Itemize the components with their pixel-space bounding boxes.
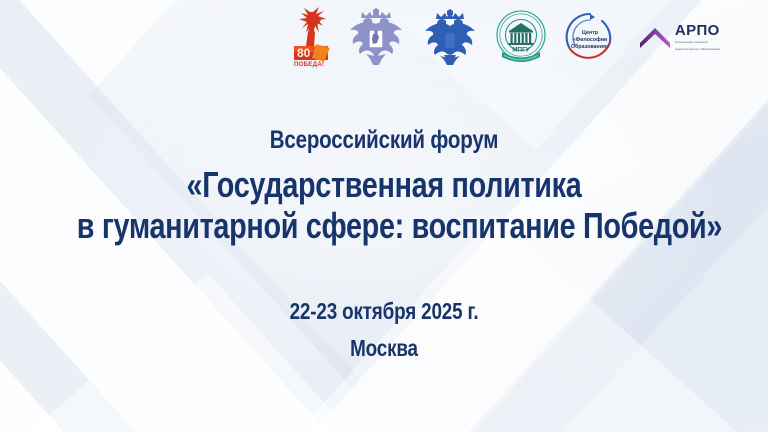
arpo-abbr: АРПО: [675, 23, 720, 38]
forum-title-line2: в гуманитарной сфере: воспитание Победой…: [77, 208, 691, 245]
forum-poster: 80 ПОБЕДА!: [0, 0, 768, 432]
minobrnauki-emblem-logo: [346, 8, 406, 66]
svg-text:ПОБЕДА!: ПОБЕДА!: [294, 61, 324, 68]
arpo-subtitle-line1: Ассоциация развития: [675, 40, 720, 44]
motherland-statue-icon: [299, 7, 326, 46]
forum-kicker: Всероссийский форум: [69, 128, 699, 153]
headline-block: Всероссийский форум «Государственная пол…: [0, 128, 768, 244]
event-dates: 22-23 октября 2025 г.: [69, 300, 699, 323]
centr-filosofii-obrazovaniya-logo: Центр «Философии Образования»: [562, 9, 618, 65]
double-headed-eagle-icon: [346, 8, 406, 66]
event-details: 22-23 октября 2025 г. Москва: [0, 300, 768, 360]
forum-title-line1: «Государственная политика: [77, 167, 691, 204]
arpo-subtitle-line2: педагогического образования: [675, 47, 720, 51]
event-city: Москва: [69, 337, 699, 360]
arpo-logo: АРПО Ассоциация развития педагогического…: [632, 17, 728, 57]
cfo-line2: «Философии: [573, 36, 608, 43]
pobeda-80-logo: 80 ПОБЕДА!: [290, 6, 332, 68]
cfo-line1: Центр: [582, 30, 599, 36]
cfo-line3: Образования»: [571, 43, 609, 50]
logo-strip: 80 ПОБЕДА!: [0, 0, 768, 74]
double-headed-eagle-icon: [420, 8, 480, 66]
mpgu-abbr: МПГУ: [512, 47, 531, 54]
arpo-chevron-icon: [640, 25, 670, 49]
university-building-icon: [509, 23, 534, 45]
svg-text:80: 80: [297, 46, 311, 60]
minprosvescheniya-emblem-logo: [420, 8, 480, 66]
mpgu-emblem-logo: МПГУ: [494, 9, 548, 65]
